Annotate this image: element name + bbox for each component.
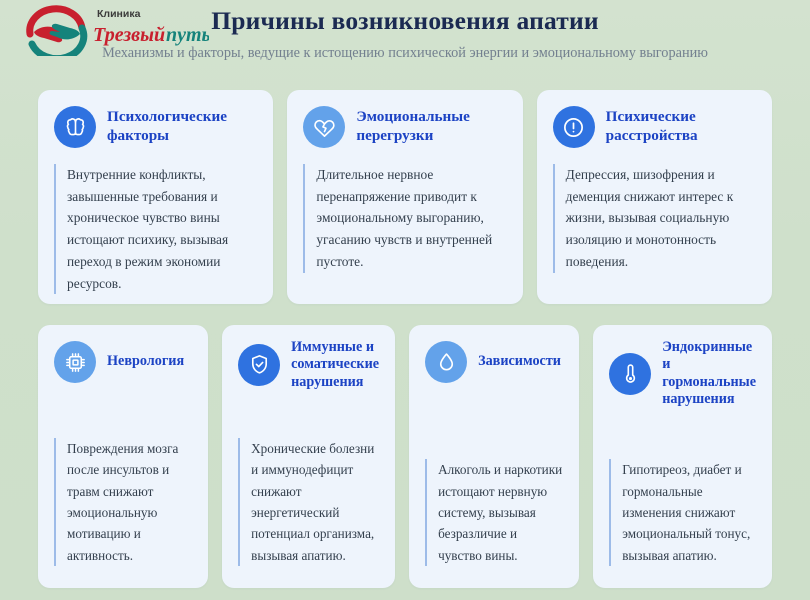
card-title: Психологические факторы xyxy=(107,108,257,145)
card-title: Зависимости xyxy=(478,353,561,370)
card-body: Депрессия, шизофрения и деменция снижают… xyxy=(553,164,756,273)
card-header: Зависимости xyxy=(425,339,563,385)
card-body: Повреждения мозга после инсультов и трав… xyxy=(54,438,192,566)
microchip-icon xyxy=(54,341,96,383)
card-header: Психические расстройства xyxy=(553,104,756,150)
card-immune-somatic[interactable]: Иммунные и соматические нарушения Хронич… xyxy=(222,325,395,588)
logo-brand-name: Трезвый xyxy=(93,24,165,46)
card-endocrine-hormonal[interactable]: Эндокринные и гормональные нарушения Гип… xyxy=(593,325,772,588)
infographic-page: Клиника Трезвый путь Причины возникновен… xyxy=(0,0,810,600)
water-drop-icon xyxy=(425,341,467,383)
card-emotional-overload[interactable]: Эмоциональные перегрузки Длительное нерв… xyxy=(287,90,522,304)
card-row-2: Неврология Повреждения мозга после инсул… xyxy=(38,325,772,588)
card-title: Иммунные и соматические нарушения xyxy=(291,339,379,391)
card-title: Психические расстройства xyxy=(606,108,756,145)
shield-check-icon xyxy=(238,344,280,386)
card-row-1: Психологические факторы Внутренние конфл… xyxy=(38,90,772,304)
broken-heart-icon xyxy=(303,106,345,148)
exclamation-circle-icon xyxy=(553,106,595,148)
spacer xyxy=(238,391,379,438)
card-title: Эндокринные и гормональные нарушения xyxy=(662,339,756,408)
card-addictions[interactable]: Зависимости Алкоголь и наркотики истощаю… xyxy=(409,325,579,588)
card-mental-disorders[interactable]: Психические расстройства Депрессия, шизо… xyxy=(537,90,772,304)
card-body: Хронические болезни и иммунодефицит сниж… xyxy=(238,438,379,566)
card-neurology[interactable]: Неврология Повреждения мозга после инсул… xyxy=(38,325,208,588)
card-body: Алкоголь и наркотики истощают нервную си… xyxy=(425,459,563,566)
card-title: Неврология xyxy=(107,353,184,370)
card-body: Гипотиреоз, диабет и гормональные измене… xyxy=(609,459,756,566)
brain-icon xyxy=(54,106,96,148)
hands-circle-logo-icon: Клиника Трезвый путь xyxy=(14,4,209,56)
spacer xyxy=(54,385,192,438)
card-header: Психологические факторы xyxy=(54,104,257,150)
card-body: Внутренние конфликты, завышенные требова… xyxy=(54,164,257,294)
thermometer-icon xyxy=(609,353,651,395)
card-header: Эмоциональные перегрузки xyxy=(303,104,506,150)
spacer xyxy=(425,385,563,459)
card-title: Эмоциональные перегрузки xyxy=(356,108,506,145)
svg-text:путь: путь xyxy=(166,24,209,46)
header: Клиника Трезвый путь Причины возникновен… xyxy=(0,0,810,80)
spacer xyxy=(609,408,756,459)
card-body: Длительное нервное перенапряжение привод… xyxy=(303,164,506,273)
card-psychological-factors[interactable]: Психологические факторы Внутренние конфл… xyxy=(38,90,273,304)
card-header: Иммунные и соматические нарушения xyxy=(238,339,379,391)
card-header: Эндокринные и гормональные нарушения xyxy=(609,339,756,408)
clinic-logo: Клиника Трезвый путь xyxy=(14,4,209,56)
logo-clinic-word: Клиника xyxy=(97,8,141,20)
card-header: Неврология xyxy=(54,339,192,385)
